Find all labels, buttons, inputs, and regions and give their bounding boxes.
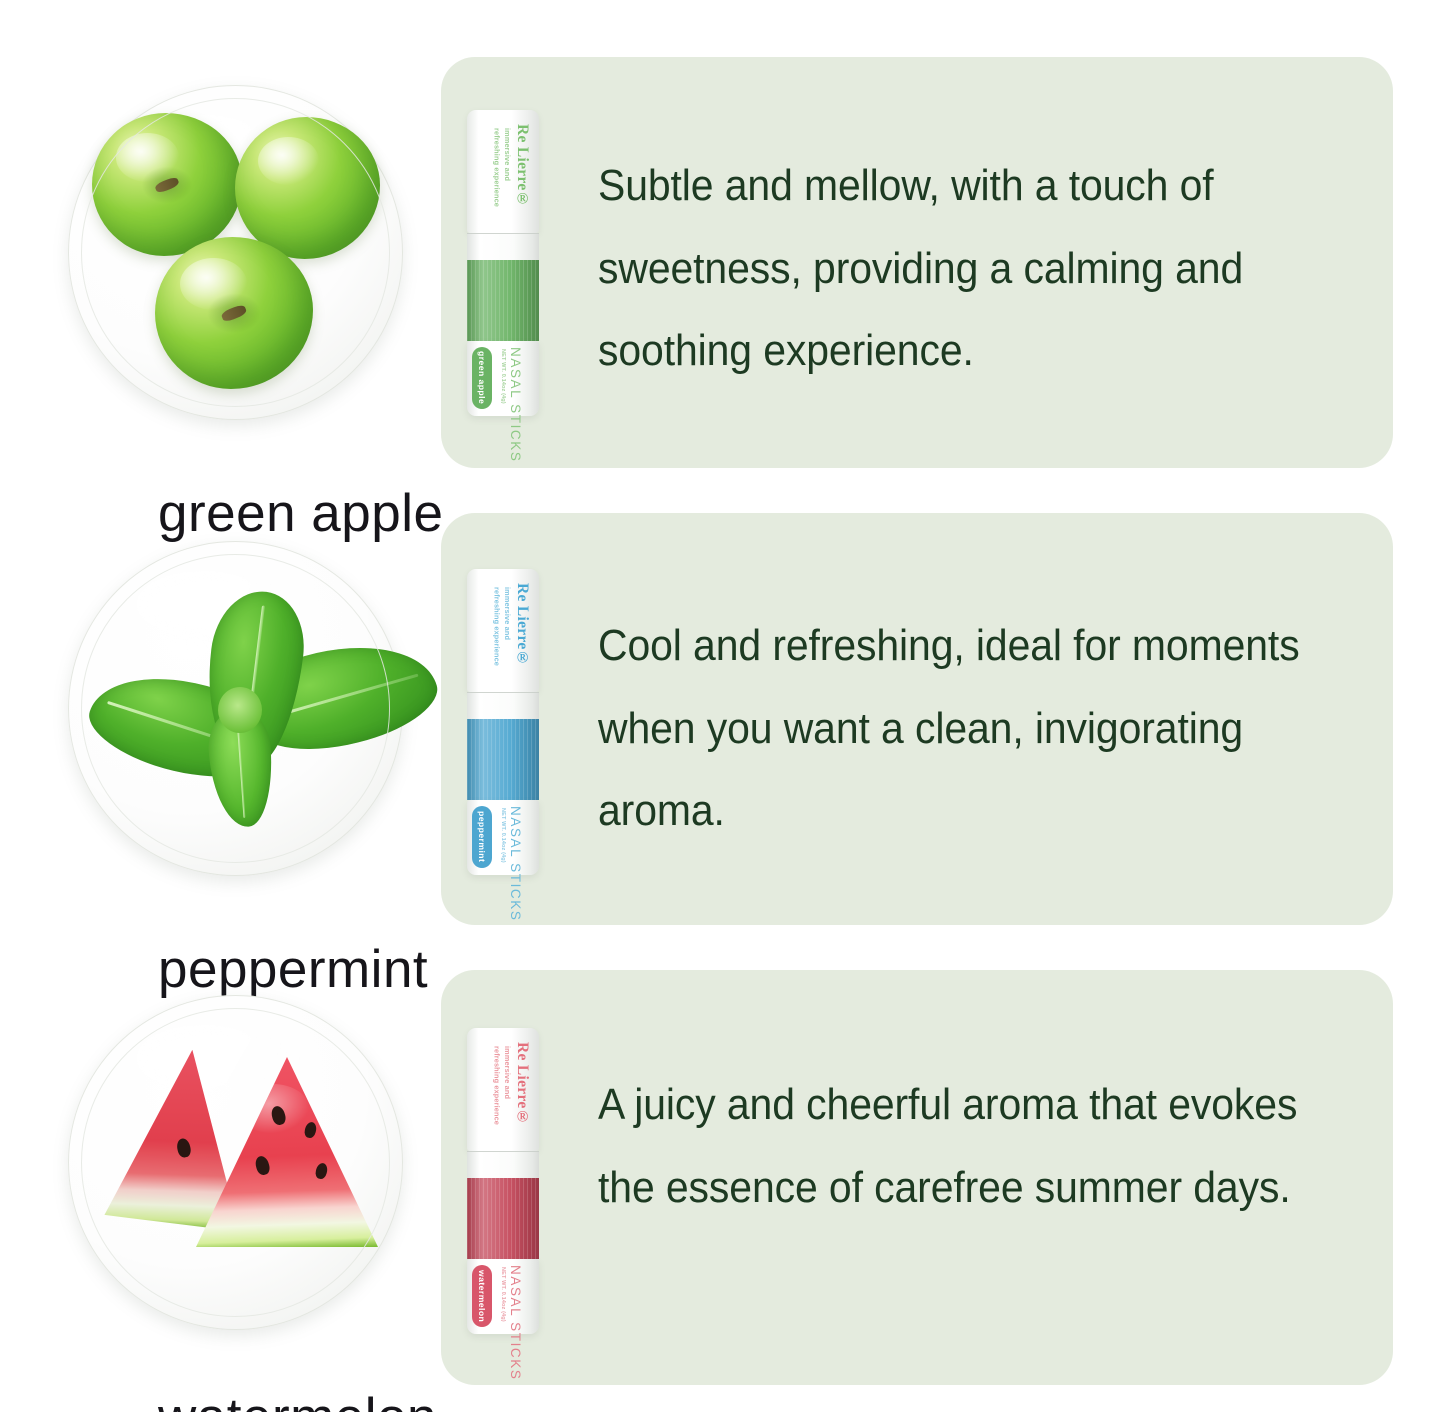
stick-cap: Re Lierre® immersive and refreshing expe… xyxy=(467,569,539,692)
stick-collar xyxy=(467,233,539,260)
mint-leaf-icon xyxy=(206,707,276,829)
product-stick-watermelon: Re Lierre® immersive and refreshing expe… xyxy=(467,1028,539,1334)
description-card-peppermint: Re Lierre® immersive and refreshing expe… xyxy=(441,513,1393,925)
brand-name: Re Lierre® xyxy=(513,1042,531,1126)
apple-icon xyxy=(92,113,242,256)
brand-name: Re Lierre® xyxy=(513,583,531,667)
description-card-watermelon: Re Lierre® immersive and refreshing expe… xyxy=(441,970,1393,1385)
variant-row-watermelon: watermelon Re Lierre® immersive and refr… xyxy=(0,970,1445,1385)
plate-watermelon xyxy=(68,995,403,1330)
flavor-pill-green-apple: green apple xyxy=(472,347,492,409)
variant-row-peppermint: peppermint Re Lierre® immersive and refr… xyxy=(0,513,1445,925)
plate-green-apple xyxy=(68,85,403,420)
brand-name: Re Lierre® xyxy=(513,124,531,208)
flavor-name-watermelon: watermelon xyxy=(158,1387,437,1412)
description-text-watermelon: A juicy and cheerful aroma that evokes t… xyxy=(598,1064,1314,1229)
product-stick-green-apple: Re Lierre® immersive and refreshing expe… xyxy=(467,110,539,416)
brand-tagline: immersive and refreshing experience xyxy=(491,1046,512,1125)
plate-gloss xyxy=(135,1022,289,1096)
mint-leaf-icon xyxy=(80,654,278,797)
watermelon-wedge-icon xyxy=(196,1057,378,1247)
description-text-green-apple: Subtle and mellow, with a touch of sweet… xyxy=(598,145,1314,393)
brand-tagline: immersive and refreshing experience xyxy=(491,128,512,207)
stick-base: NASAL STICKS NET WT. 0.14oz (4g) waterme… xyxy=(467,1259,539,1334)
stick-base: NASAL STICKS NET WT. 0.14oz (4g) pepperm… xyxy=(467,800,539,875)
product-type-label: NASAL STICKS xyxy=(508,347,523,462)
description-text-peppermint: Cool and refreshing, ideal for moments w… xyxy=(598,605,1314,853)
stick-cap: Re Lierre® immersive and refreshing expe… xyxy=(467,110,539,233)
stick-color-band xyxy=(467,719,539,800)
mint-leaf-icon xyxy=(198,586,311,772)
apple-icon xyxy=(235,117,380,259)
stick-collar xyxy=(467,692,539,719)
watermelon-wedge-icon xyxy=(104,1044,252,1231)
mint-stem xyxy=(218,687,262,733)
flavor-visual-peppermint: peppermint xyxy=(68,541,403,876)
stick-color-band xyxy=(467,260,539,341)
stick-color-band xyxy=(467,1178,539,1259)
flavor-visual-watermelon: watermelon xyxy=(68,995,403,1330)
stick-base: NASAL STICKS NET WT. 0.14oz (4g) green a… xyxy=(467,341,539,416)
brand-tagline: immersive and refreshing experience xyxy=(491,587,512,666)
product-stick-peppermint: Re Lierre® immersive and refreshing expe… xyxy=(467,569,539,875)
infographic-page: green apple Re Lierre® immersive and ref… xyxy=(0,0,1445,1412)
apple-icon xyxy=(155,237,313,389)
net-weight-label: NET WT. 0.14oz (4g) xyxy=(500,349,506,404)
stick-cap: Re Lierre® immersive and refreshing expe… xyxy=(467,1028,539,1151)
plate-gloss xyxy=(135,112,289,186)
flavor-pill-watermelon: watermelon xyxy=(472,1265,492,1327)
product-type-label: NASAL STICKS xyxy=(508,1265,523,1380)
net-weight-label: NET WT. 0.14oz (4g) xyxy=(500,808,506,863)
watermelon-slices-icon xyxy=(110,1049,370,1259)
mint-leaf-icon xyxy=(240,623,446,768)
product-type-label: NASAL STICKS xyxy=(508,806,523,921)
stick-collar xyxy=(467,1151,539,1178)
description-card-green-apple: Re Lierre® immersive and refreshing expe… xyxy=(441,57,1393,468)
net-weight-label: NET WT. 0.14oz (4g) xyxy=(500,1267,506,1322)
flavor-pill-peppermint: peppermint xyxy=(472,806,492,868)
flavor-visual-green-apple: green apple xyxy=(68,85,403,420)
mint-sprig-icon xyxy=(90,591,385,806)
variant-row-green-apple: green apple Re Lierre® immersive and ref… xyxy=(0,57,1445,468)
plate-peppermint xyxy=(68,541,403,876)
plate-gloss xyxy=(135,568,289,642)
